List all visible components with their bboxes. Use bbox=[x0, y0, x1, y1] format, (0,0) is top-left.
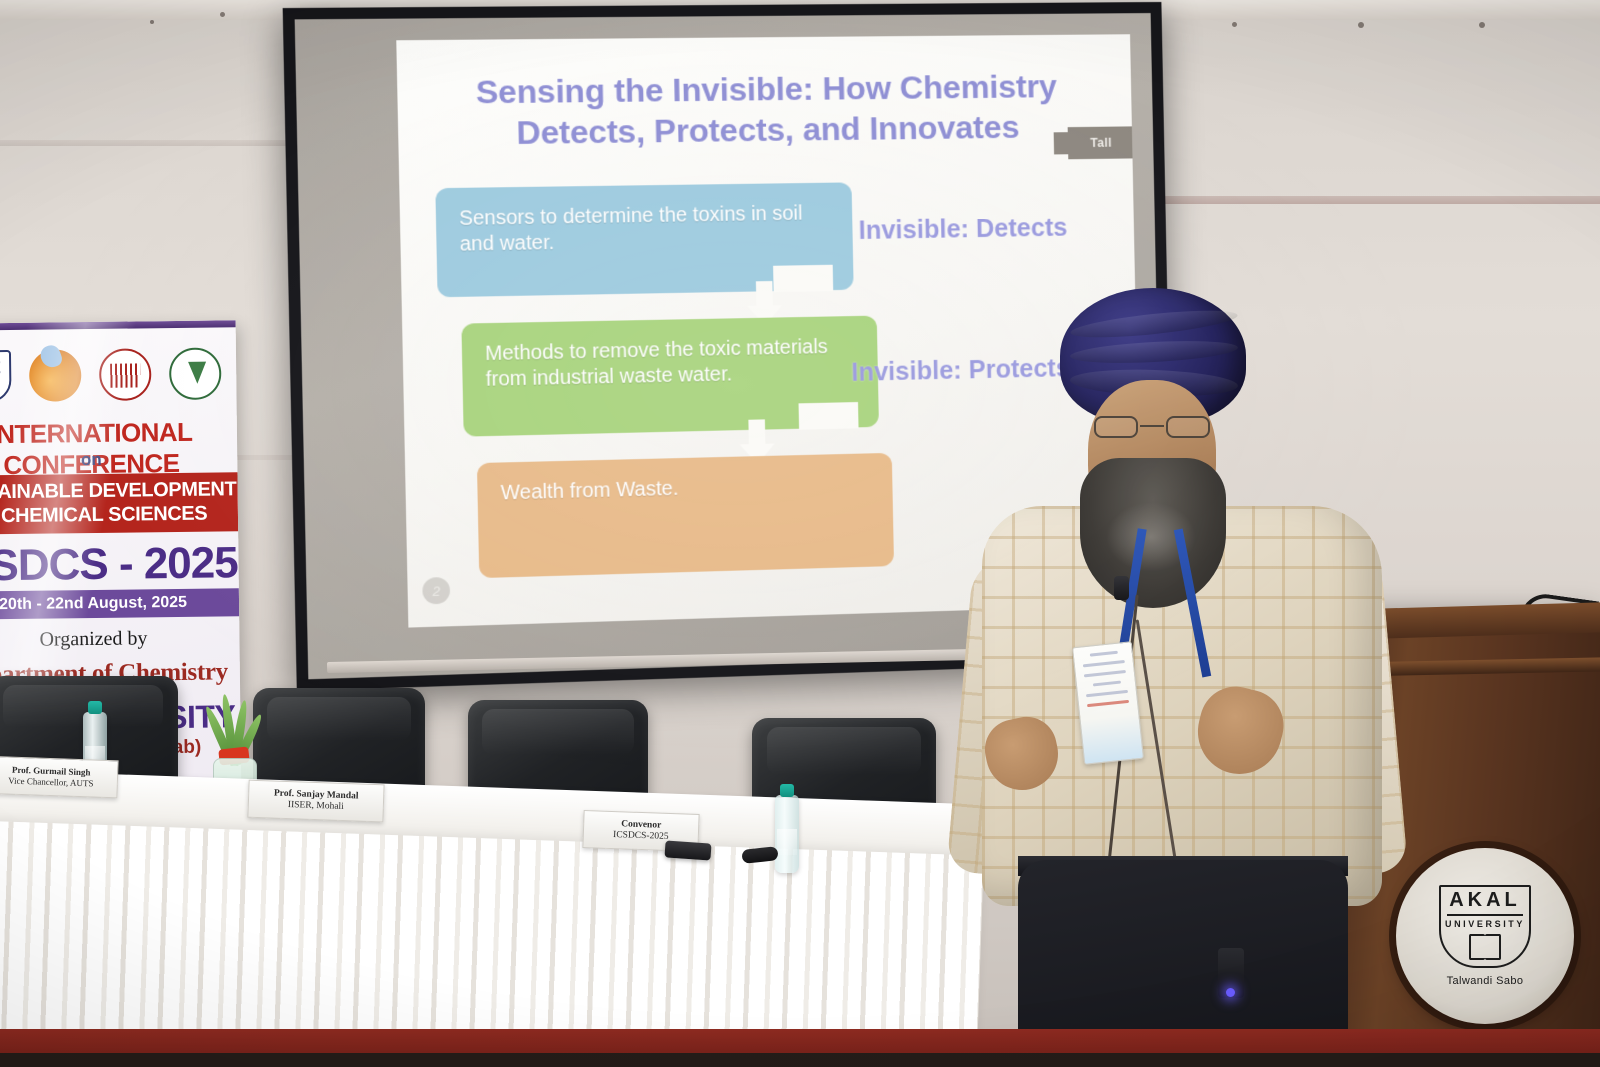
flow-notch bbox=[799, 402, 859, 430]
lapel-microphone bbox=[1114, 576, 1129, 600]
slide-corner-tab: Tall bbox=[1068, 126, 1135, 159]
akal-university-shield-logo bbox=[0, 350, 12, 403]
badge-line bbox=[1087, 700, 1129, 707]
slide-page-badge: 2 bbox=[422, 577, 450, 605]
wall-speck bbox=[1232, 22, 1237, 27]
eternal-university-logo bbox=[29, 349, 82, 402]
badge-line bbox=[1083, 660, 1125, 667]
seal-title: AKAL bbox=[1441, 890, 1529, 911]
flow-notch bbox=[773, 265, 833, 292]
flow-box-methods: Methods to remove the toxic materials fr… bbox=[461, 316, 879, 437]
badge-line bbox=[1090, 651, 1118, 657]
banner-logo-row bbox=[0, 334, 237, 416]
slide-title: Sensing the Invisible: How Chemistry Det… bbox=[411, 52, 1118, 154]
banner-dates: 20th - 22nd August, 2025 bbox=[0, 588, 239, 620]
turban-fold bbox=[1070, 338, 1239, 367]
name-placard: Prof. Gurmail Singh Vice Chancellor, AUT… bbox=[0, 756, 119, 799]
badge-line bbox=[1086, 690, 1128, 697]
name-placard: Prof. Sanjay Mandal IISER, Mohali bbox=[247, 780, 384, 823]
wall-trim-line-left bbox=[0, 140, 300, 146]
seal-subtitle: UNIVERSITY bbox=[1441, 919, 1529, 929]
banner-organized-by: Organized by bbox=[0, 626, 240, 653]
flow-box-wealth: Wealth from Waste. bbox=[477, 453, 894, 578]
speaker-person bbox=[960, 288, 1400, 1067]
seal-divider bbox=[1447, 914, 1523, 916]
mobile-phone bbox=[664, 840, 711, 860]
wall-trim-line bbox=[1150, 196, 1600, 204]
flow-box-wealth-text: Wealth from Waste. bbox=[500, 472, 870, 507]
badge-line bbox=[1084, 670, 1126, 677]
red-seal-logo bbox=[99, 348, 152, 401]
banner-acronym: ICSDCS - 2025 bbox=[0, 538, 239, 592]
conference-photo-scene: Sensing the Invisible: How Chemistry Det… bbox=[0, 0, 1600, 1067]
seal-shield: AKAL UNIVERSITY bbox=[1439, 885, 1531, 968]
wall-speck bbox=[150, 20, 154, 24]
transmitter-led-icon bbox=[1226, 988, 1235, 997]
banner-theme-line-1: SUSTAINABLE DEVELOPMENT bbox=[0, 478, 238, 505]
floor-foreground bbox=[0, 1053, 1600, 1067]
flow-box-sensors-text: Sensors to determine the toxins in soil … bbox=[459, 201, 830, 257]
speaker-beard bbox=[1080, 458, 1226, 608]
badge-line bbox=[1093, 681, 1121, 687]
turban-fold bbox=[1069, 305, 1238, 342]
placard-role: ICSDCS-2025 bbox=[613, 830, 669, 843]
flow-box-sensors: Sensors to determine the toxins in soil … bbox=[435, 182, 853, 297]
icsdcs-flask-logo bbox=[169, 347, 222, 400]
placard-role: Vice Chancellor, AUTS bbox=[8, 776, 94, 790]
flow-box-methods-text: Methods to remove the toxic materials fr… bbox=[485, 334, 856, 392]
slide-title-line-2: Detects, Protects, and Innovates bbox=[421, 106, 1110, 154]
banner-on-word: on bbox=[0, 448, 237, 472]
akal-university-seal: AKAL UNIVERSITY Talwandi Sabo bbox=[1396, 848, 1574, 1024]
wall-speck bbox=[220, 12, 225, 17]
side-label-detects: Invisible: Detects bbox=[858, 214, 1067, 247]
id-badge bbox=[1072, 641, 1144, 765]
banner-top-rail bbox=[0, 320, 236, 331]
eyeglasses-icon bbox=[1094, 416, 1210, 438]
wall-speck bbox=[1479, 22, 1485, 28]
banner-theme-band: SUSTAINABLE DEVELOPMENT IN CHEMICAL SCIE… bbox=[0, 472, 238, 535]
placard-role: IISER, Mohali bbox=[288, 800, 344, 813]
banner-theme-line-2: IN CHEMICAL SCIENCES bbox=[0, 502, 238, 529]
seal-place: Talwandi Sabo bbox=[1447, 975, 1524, 987]
wall-speck bbox=[1358, 22, 1364, 28]
open-book-icon bbox=[1469, 934, 1501, 958]
water-bottle bbox=[775, 795, 799, 873]
